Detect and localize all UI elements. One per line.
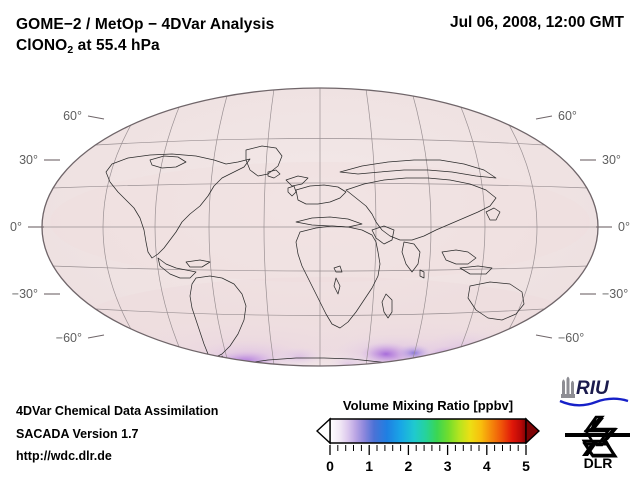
pressure-level: at 55.4 hPa	[73, 37, 160, 54]
colorbar-tick-5: 5	[522, 458, 530, 474]
map-panel: 60° 30° 0° −30° −60° 60° 30° 0° −30° −60…	[0, 72, 640, 382]
lat-label-30-left: 30°	[19, 153, 38, 167]
footer-line-url[interactable]: http://wdc.dlr.de	[16, 445, 218, 468]
colorbar-ticks	[330, 445, 526, 455]
lat-label-30-right: 30°	[602, 153, 621, 167]
dlr-bird-shape	[565, 418, 630, 456]
map-data-layer	[42, 88, 598, 382]
species-name: ClONO	[16, 37, 67, 54]
lat-label-60-left: 60°	[63, 109, 82, 123]
lat-label-m60-left: −60°	[56, 331, 82, 345]
lat-label-m60-right: −60°	[558, 331, 584, 345]
colorbar-tick-3: 3	[444, 458, 452, 474]
world-map: 60° 30° 0° −30° −60° 60° 30° 0° −30° −60…	[0, 72, 640, 382]
colorbar-arrow-low	[317, 419, 330, 443]
footer-line-assimilation: 4DVar Chemical Data Assimilation	[16, 400, 218, 423]
colorbar-title: Volume Mixing Ratio [ppbv]	[316, 398, 540, 413]
page-title: GOME−2 / MetOp − 4DVar Analysis	[16, 14, 274, 35]
footer-line-version: SACADA Version 1.7	[16, 423, 218, 446]
species-subscript: 2	[67, 44, 73, 56]
footer-block: 4DVar Chemical Data Assimilation SACADA …	[16, 400, 218, 468]
riu-towers-icon	[561, 377, 575, 398]
colorbar-tick-2: 2	[405, 458, 413, 474]
title-block: GOME−2 / MetOp − 4DVar Analysis ClONO2 a…	[16, 14, 274, 58]
colorbar-tick-4: 4	[483, 458, 491, 474]
species-subtitle: ClONO2 at 55.4 hPa	[16, 35, 274, 58]
colorbar-arrow-high	[526, 419, 539, 443]
colorbar: 0 1 2 3 4 5	[316, 417, 540, 481]
colorbar-tick-1: 1	[365, 458, 373, 474]
figure-root: GOME−2 / MetOp − 4DVar Analysis ClONO2 a…	[0, 0, 640, 480]
lat-label-m30-left: −30°	[12, 287, 38, 301]
dlr-logo: DLR	[562, 415, 634, 471]
riu-logo: RIU	[556, 374, 634, 410]
colorbar-block: Volume Mixing Ratio [ppbv]	[316, 398, 540, 481]
colorbar-minor-ticks	[338, 445, 518, 451]
lat-label-m30-right: −30°	[602, 287, 628, 301]
lat-label-60-right: 60°	[558, 109, 577, 123]
colorbar-tick-0: 0	[326, 458, 334, 474]
date-stamp: Jul 06, 2008, 12:00 GMT	[450, 14, 624, 32]
lat-label-0-right: 0°	[618, 220, 630, 234]
dlr-wordmark: DLR	[584, 455, 613, 471]
riu-wave-icon	[560, 399, 628, 406]
lat-label-0-left: 0°	[10, 220, 22, 234]
riu-wordmark: RIU	[576, 378, 610, 399]
colorbar-gradient	[330, 419, 526, 443]
